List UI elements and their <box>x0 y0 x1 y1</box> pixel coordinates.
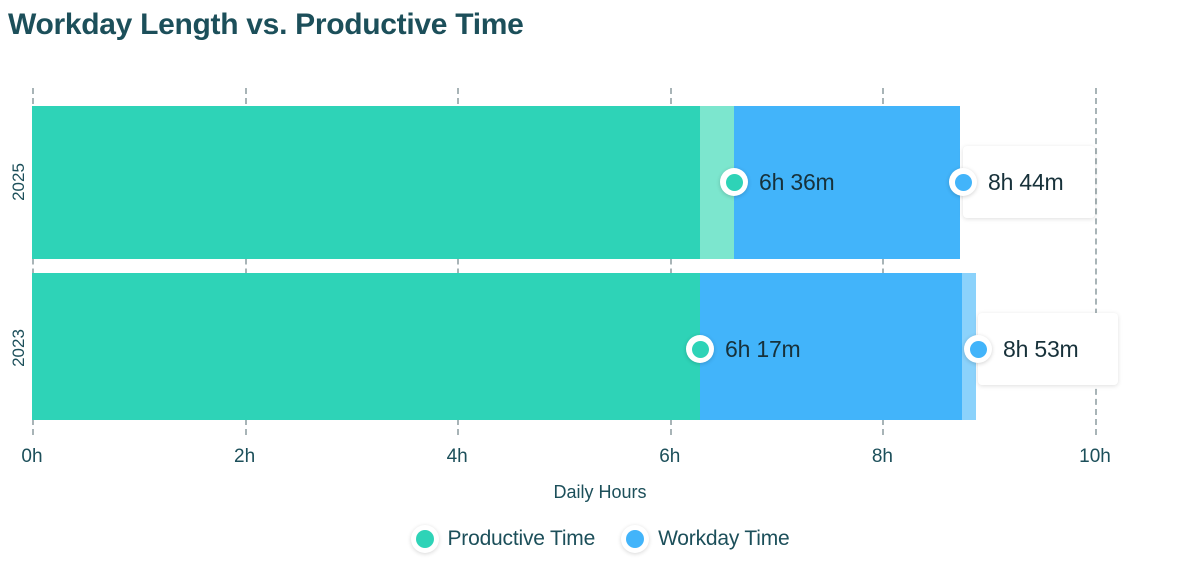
workday-value-2023: 8h 53m <box>1003 336 1079 363</box>
value-chip-productive-2023[interactable]: 6h 17m <box>686 335 801 363</box>
chart-container: Workday Length vs. Productive Time 6h 36… <box>0 0 1200 563</box>
productive-marker-icon <box>686 335 714 363</box>
chart-legend: Productive Time Workday Time <box>0 525 1200 553</box>
productive-marker-icon <box>720 168 748 196</box>
x-axis-label: Daily Hours <box>0 482 1200 503</box>
x-axis-tick-4: 8h <box>872 446 893 468</box>
legend-item-productive-time[interactable]: Productive Time <box>411 525 596 553</box>
bar-row-2023[interactable] <box>32 273 1095 420</box>
legend-item-workday-time[interactable]: Workday Time <box>621 525 789 553</box>
legend-productive-swatch-icon <box>411 525 439 553</box>
productive-value-2025: 6h 36m <box>759 169 835 196</box>
bar-segment-productive-2023[interactable] <box>32 273 700 420</box>
x-axis-tick-5: 10h <box>1079 446 1111 468</box>
x-axis-tick-1: 2h <box>234 446 255 468</box>
workday-marker-icon <box>964 335 992 363</box>
x-axis-tick-3: 6h <box>659 446 680 468</box>
x-axis-tick-0: 0h <box>21 446 42 468</box>
value-chip-workday-2023[interactable]: 8h 53m <box>964 335 1079 363</box>
y-axis-label-2025: 2025 <box>9 163 29 201</box>
legend-label-productive-time: Productive Time <box>448 527 596 551</box>
bar-segment-productive-2025[interactable] <box>32 106 700 259</box>
workday-marker-icon <box>949 168 977 196</box>
y-axis-category-2023: 2023 <box>0 338 30 358</box>
y-axis-category-2025: 2025 <box>0 172 30 192</box>
legend-workday-swatch-icon <box>621 525 649 553</box>
y-axis-label-2023: 2023 <box>9 329 29 367</box>
legend-label-workday-time: Workday Time <box>658 527 789 551</box>
productive-value-2023: 6h 17m <box>725 336 801 363</box>
plot-area: 6h 36m 8h 44m 6h 17m <box>32 88 1095 435</box>
x-axis-tick-2: 4h <box>447 446 468 468</box>
bar-row-2025[interactable] <box>32 106 1095 259</box>
value-chip-productive-2025[interactable]: 6h 36m <box>720 168 835 196</box>
workday-value-2025: 8h 44m <box>988 169 1064 196</box>
chart-title: Workday Length vs. Productive Time <box>8 8 524 42</box>
value-chip-workday-2025[interactable]: 8h 44m <box>949 168 1064 196</box>
